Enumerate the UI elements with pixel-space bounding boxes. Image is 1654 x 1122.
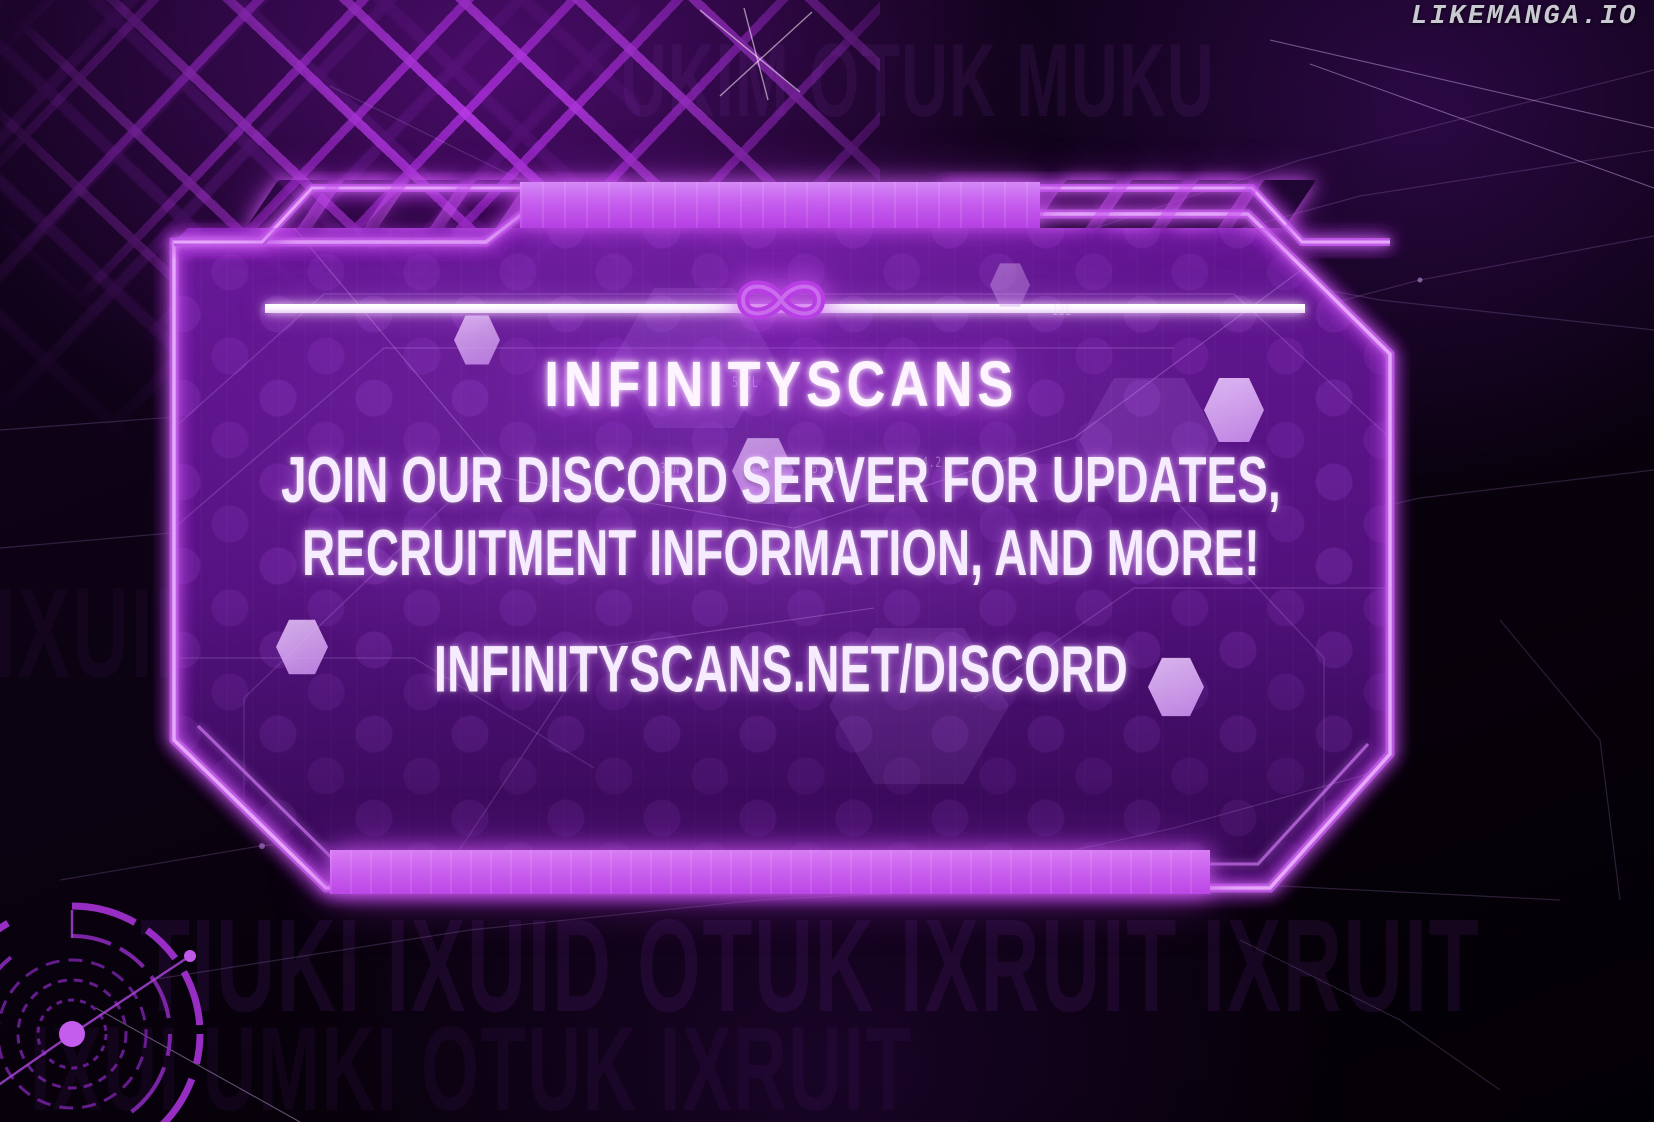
micro-label: LK7 (752, 460, 772, 475)
micro-label: 32N'U (660, 462, 693, 477)
stripe-group-right (1050, 180, 1300, 228)
micro-label: 13E (1052, 304, 1072, 319)
promo-banner: UKIM OTUK MUKU IIXUIKUM TIUKI IXUID OTUK… (0, 0, 1654, 1122)
micro-label: 4.2 (922, 456, 942, 471)
hud-frame: 5R7L 32N'U 57ICU LK7 4.2 13E INFINITYSCA… (152, 166, 1410, 906)
frame-top-bar (520, 182, 1040, 228)
infinity-icon (714, 258, 848, 342)
micro-label: 5R7L (732, 376, 758, 391)
stripe-group-left (262, 180, 512, 228)
frame-bottom-bar (330, 850, 1210, 894)
micro-label: 57ICU (812, 462, 845, 477)
site-watermark: LIKEMANGA.IO (1411, 2, 1638, 32)
radar-hud-icon (0, 884, 222, 1122)
